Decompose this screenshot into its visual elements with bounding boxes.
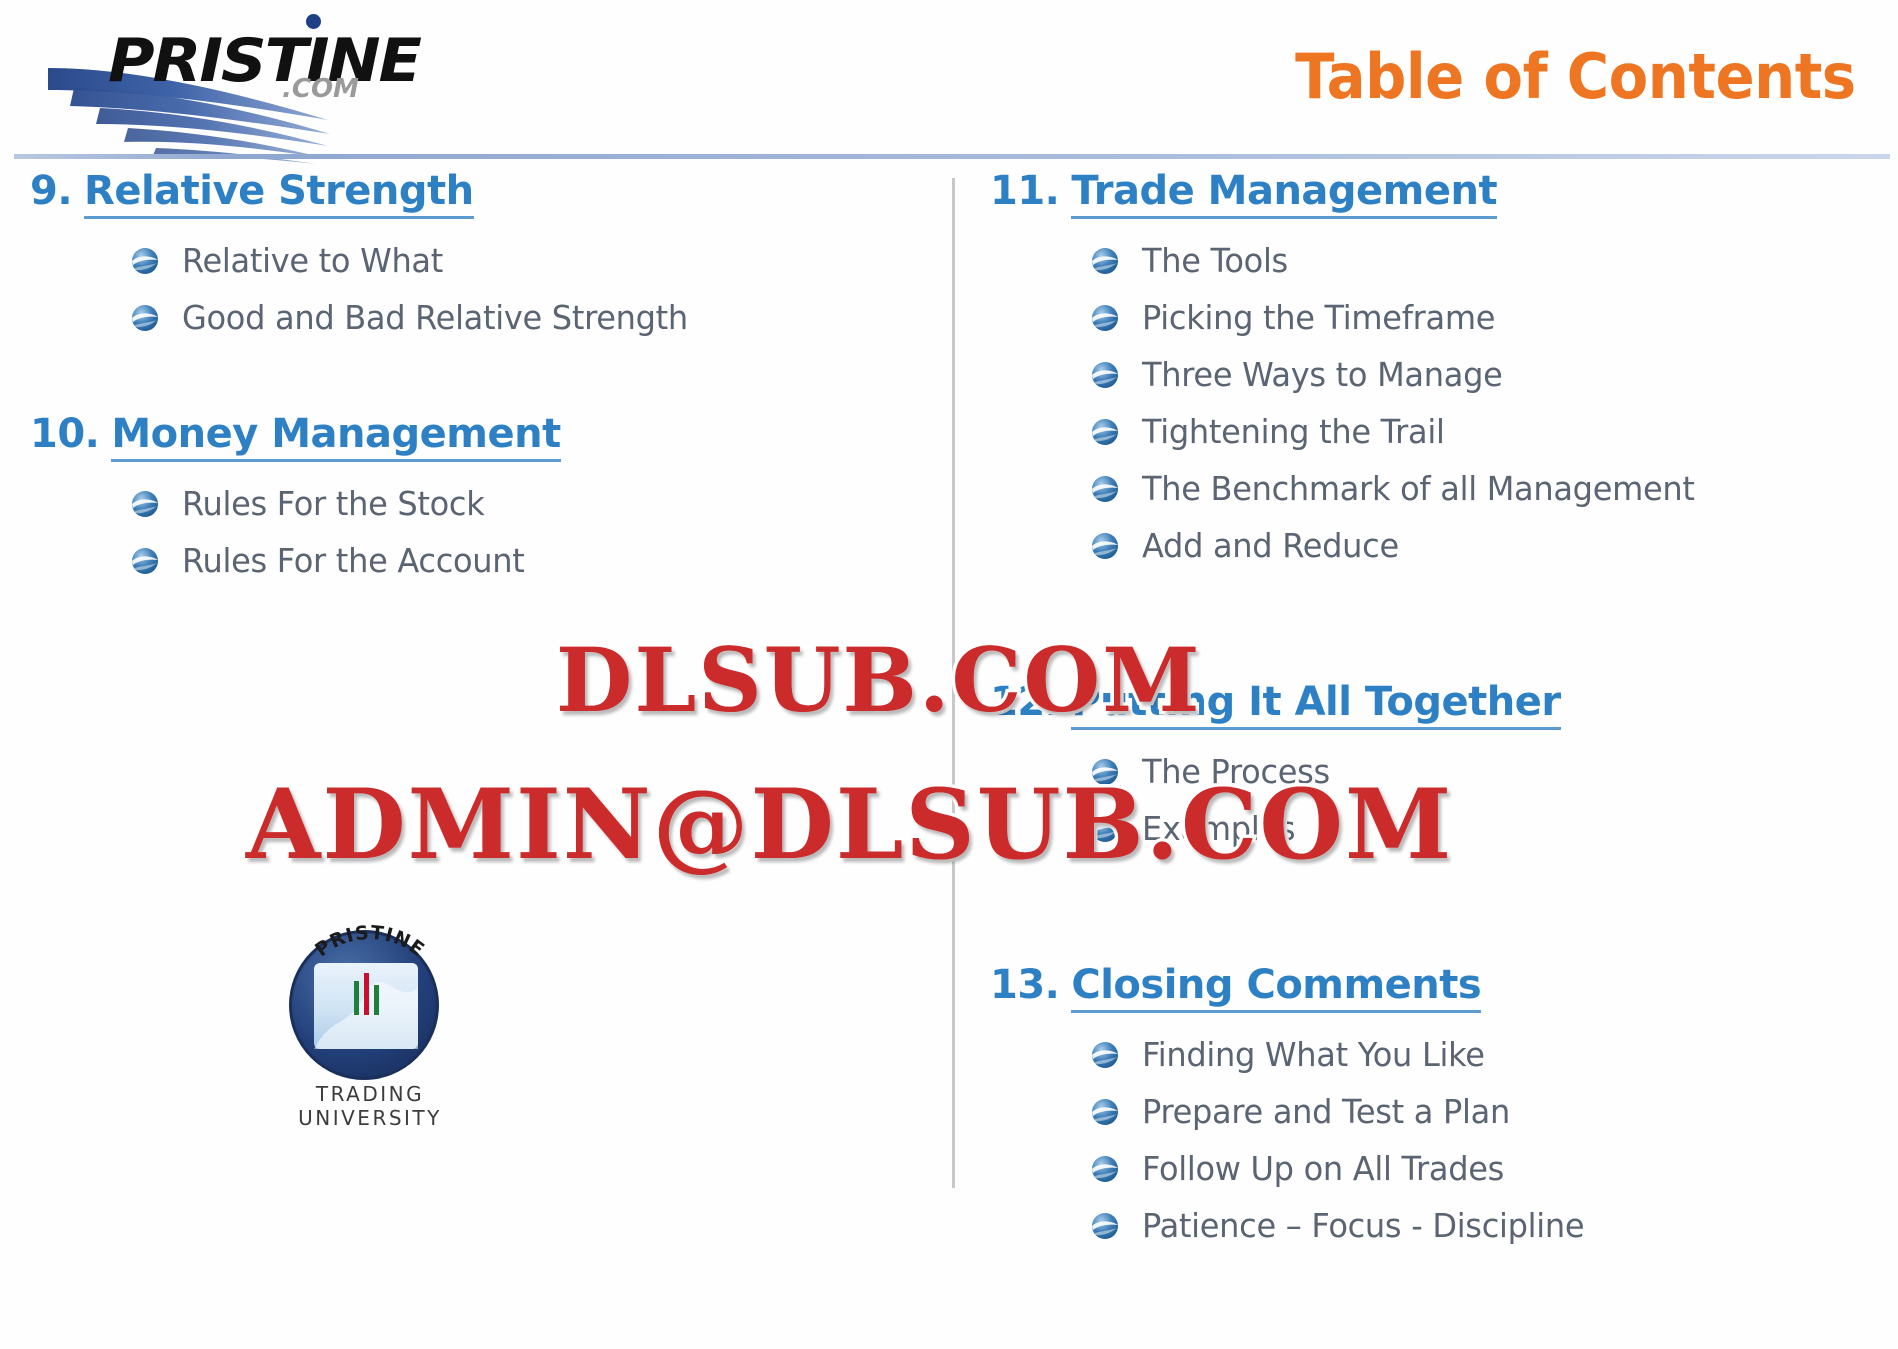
list-item-label: Prepare and Test a Plan	[1142, 1092, 1510, 1131]
blue-swirl-sphere-bullet-icon	[1090, 303, 1120, 333]
blue-swirl-sphere-bullet-icon	[130, 546, 160, 576]
brand-dotcom: .COM	[282, 74, 359, 104]
list-item-label: Finding What You Like	[1142, 1035, 1485, 1074]
toc-section-heading[interactable]: 10. Money Management	[30, 411, 930, 462]
toc-section-number: 13.	[990, 962, 1059, 1008]
blue-swirl-sphere-bullet-icon	[1090, 417, 1120, 447]
watermark-dlsub-fill: DLSUB.COM	[556, 628, 1202, 732]
list-item-label: Rules For the Account	[182, 541, 525, 580]
list-item-label: Patience – Focus - Discipline	[1142, 1206, 1584, 1245]
toc-section-title[interactable]: Relative Strength	[84, 168, 474, 219]
list-item-label: Add and Reduce	[1142, 526, 1399, 565]
list-item-label: Relative to What	[182, 241, 443, 280]
toc-column-left: 9. Relative Strength	[30, 168, 930, 598]
seal-arc-label: PRISTINE	[311, 922, 429, 962]
toc-section-number: 10.	[30, 411, 99, 457]
toc-subitem-list: The Tools Picking the Timeframe	[990, 241, 1880, 565]
list-item[interactable]: The Benchmark of all Management	[990, 469, 1880, 508]
list-item[interactable]: Tightening the Trail	[990, 412, 1880, 451]
toc-section-heading[interactable]: 9. Relative Strength	[30, 168, 930, 219]
toc-section-title[interactable]: Money Management	[111, 411, 560, 462]
slide-canvas: PRISTINE .COM Table of Contents 9. Relat…	[0, 0, 1898, 1349]
slide-header: PRISTINE .COM Table of Contents	[0, 0, 1898, 158]
pristine-university-seal-icon: PRISTINE TRADING UNIVERSITY	[245, 908, 495, 1108]
list-item-label: Good and Bad Relative Strength	[182, 298, 688, 337]
toc-section: 13. Closing Comments Finding What You Li…	[990, 962, 1880, 1245]
seal-subtitle: TRADING UNIVERSITY	[245, 1082, 495, 1130]
blue-swirl-sphere-bullet-icon	[130, 246, 160, 276]
list-item[interactable]: Rules For the Account	[30, 541, 930, 580]
list-item[interactable]: Rules For the Stock	[30, 484, 930, 523]
list-item-label: Three Ways to Manage	[1142, 355, 1503, 394]
list-item-label: Follow Up on All Trades	[1142, 1149, 1504, 1188]
toc-section: 11. Trade Management The Tools	[990, 168, 1880, 565]
blue-swirl-sphere-bullet-icon	[1090, 246, 1120, 276]
blue-swirl-sphere-bullet-icon	[130, 489, 160, 519]
blue-swirl-sphere-bullet-icon	[1090, 1211, 1120, 1241]
list-item[interactable]: Patience – Focus - Discipline	[990, 1206, 1880, 1245]
toc-subitem-list: Finding What You Like Prepare and Test a…	[990, 1035, 1880, 1245]
list-item[interactable]: Add and Reduce	[990, 526, 1880, 565]
blue-swirl-sphere-bullet-icon	[130, 303, 160, 333]
toc-section-number: 11.	[990, 168, 1059, 214]
list-item[interactable]: Picking the Timeframe	[990, 298, 1880, 337]
blue-swirl-sphere-bullet-icon	[1090, 474, 1120, 504]
list-item[interactable]: Finding What You Like	[990, 1035, 1880, 1074]
list-item[interactable]: Prepare and Test a Plan	[990, 1092, 1880, 1131]
toc-section: 9. Relative Strength	[30, 168, 930, 337]
list-item-label: Picking the Timeframe	[1142, 298, 1495, 337]
list-item[interactable]: Follow Up on All Trades	[990, 1149, 1880, 1188]
toc-section-heading[interactable]: 11. Trade Management	[990, 168, 1880, 219]
list-item[interactable]: Three Ways to Manage	[990, 355, 1880, 394]
list-item[interactable]: Relative to What	[30, 241, 930, 280]
toc-subitem-list: Rules For the Stock Rules For the Accoun…	[30, 484, 930, 580]
toc-section-number: 9.	[30, 168, 72, 214]
toc-section-title[interactable]: Trade Management	[1071, 168, 1497, 219]
list-item[interactable]: The Tools	[990, 241, 1880, 280]
blue-swirl-sphere-bullet-icon	[1090, 1154, 1120, 1184]
page-title: Table of Contents	[1296, 40, 1856, 113]
toc-subitem-list: Relative to What Good and Bad Relative S…	[30, 241, 930, 337]
toc-section: 10. Money Management Rules Fo	[30, 411, 930, 580]
blue-swirl-sphere-bullet-icon	[1090, 1040, 1120, 1070]
blue-swirl-sphere-bullet-icon	[1090, 531, 1120, 561]
toc-section-heading[interactable]: 13. Closing Comments	[990, 962, 1880, 1013]
watermark-admin-dlsub-fill: ADMIN@DLSUB.COM	[246, 768, 1453, 881]
list-item[interactable]: Good and Bad Relative Strength	[30, 298, 930, 337]
list-item-label: The Benchmark of all Management	[1142, 469, 1695, 508]
header-divider-rule	[14, 154, 1890, 159]
blue-swirl-sphere-bullet-icon	[1090, 360, 1120, 390]
section-spacer	[30, 355, 930, 411]
toc-body: 9. Relative Strength	[0, 168, 1898, 1349]
pristine-brand-logo: PRISTINE .COM	[40, 8, 380, 156]
list-item-label: Tightening the Trail	[1142, 412, 1445, 451]
svg-text:PRISTINE: PRISTINE	[311, 922, 429, 962]
list-item-label: The Tools	[1142, 241, 1288, 280]
blue-swirl-sphere-bullet-icon	[1090, 1097, 1120, 1127]
toc-section-title[interactable]: Closing Comments	[1071, 962, 1481, 1013]
brand-wordmark: PRISTINE	[108, 26, 420, 96]
list-item-label: Rules For the Stock	[182, 484, 485, 523]
